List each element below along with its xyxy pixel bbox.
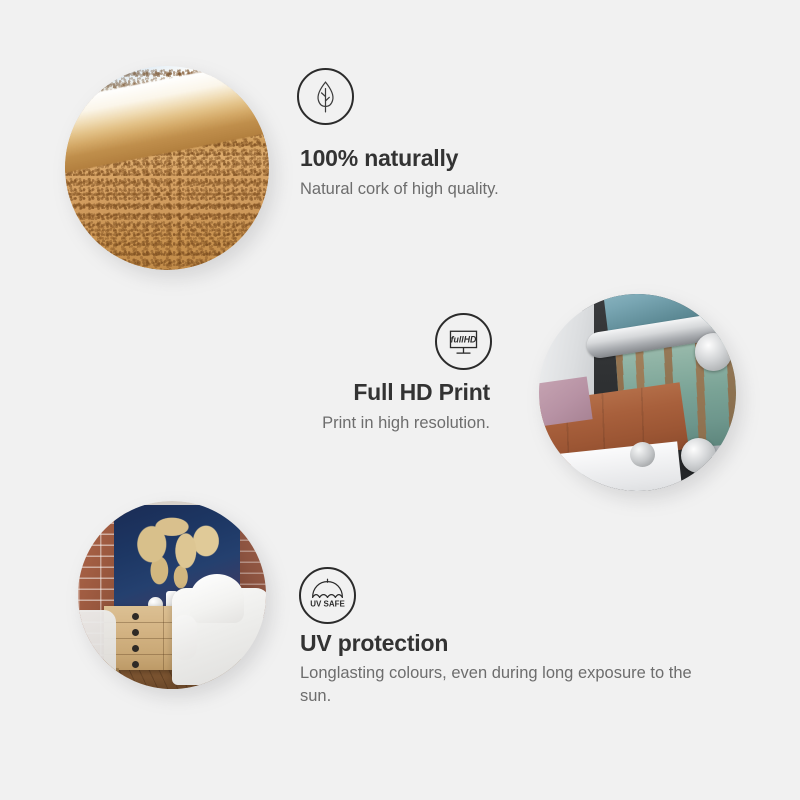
feature-title-uv: UV protection — [300, 628, 720, 658]
feature-text-natural: 100% naturally Natural cork of high qual… — [300, 143, 680, 201]
cork-texture-surface — [65, 66, 269, 270]
room-armchair — [172, 588, 266, 686]
room-armchair-secondary — [78, 610, 116, 678]
fullhd-monitor-icon: fullHD — [435, 313, 492, 370]
feature-subtitle-natural: Natural cork of high quality. — [300, 177, 680, 201]
fullhd-icon-label: fullHD — [451, 335, 477, 345]
world-map-room-photo — [78, 501, 266, 689]
feature-panel: 100% naturally Natural cork of high qual… — [0, 0, 800, 800]
printer-photo-surface — [539, 294, 736, 491]
cork-texture-photo — [65, 66, 269, 270]
uv-safe-umbrella-icon: UV SAFE — [299, 567, 356, 624]
leaf-icon — [297, 68, 354, 125]
feature-title-natural: 100% naturally — [300, 143, 680, 173]
feature-title-fullhd: Full HD Print — [200, 377, 490, 407]
feature-subtitle-uv: Longlasting colours, even during long ex… — [300, 662, 720, 708]
feature-subtitle-fullhd: Print in high resolution. — [200, 411, 490, 435]
uv-safe-icon-label: UV SAFE — [310, 600, 345, 609]
printer-photo — [539, 294, 736, 491]
feature-text-uv: UV protection Longlasting colours, even … — [300, 628, 720, 708]
feature-text-fullhd: Full HD Print Print in high resolution. — [200, 377, 490, 435]
room-photo-surface — [78, 501, 266, 689]
printer-knob-right — [695, 333, 732, 370]
